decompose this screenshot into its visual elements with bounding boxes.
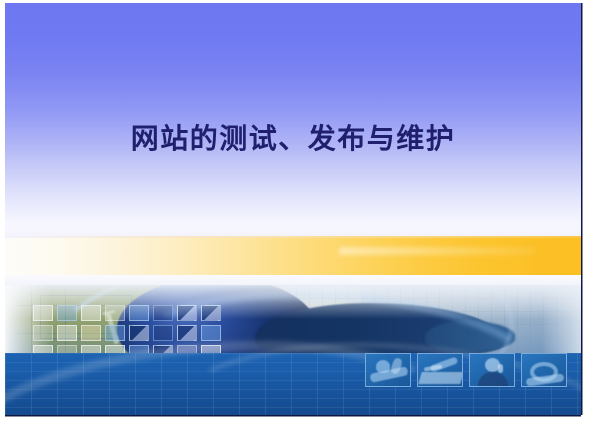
- screenshot-canvas: Website: [0, 0, 600, 424]
- thumbnail-person-with-headset: [469, 353, 515, 387]
- collage-left-fade: [5, 285, 51, 363]
- collage-graphic: Website: [5, 285, 581, 415]
- thumbnail-abstract-swirl: [521, 353, 567, 387]
- tile: [201, 325, 221, 341]
- thumbnail-pen-on-document: [417, 353, 463, 387]
- tile: [81, 325, 101, 341]
- accent-band-highlight: [339, 247, 535, 255]
- collage-right-fade: [541, 285, 581, 359]
- slide-background-gradient: [5, 3, 581, 235]
- tile: [57, 325, 77, 341]
- accent-band: [5, 238, 581, 275]
- presentation-slide: Website: [5, 3, 581, 415]
- page-title: 网站的测试、发布与维护: [5, 121, 581, 156]
- collage-top-fade: [5, 285, 581, 319]
- tile: [177, 325, 197, 341]
- title-block: 网站的测试、发布与维护: [5, 121, 581, 156]
- tile: [129, 325, 149, 341]
- tile: [105, 325, 125, 341]
- photo-thumbnail-strip: [365, 353, 567, 387]
- thumbnail-hands-on-keyboard: [365, 353, 411, 387]
- tile: [153, 325, 173, 341]
